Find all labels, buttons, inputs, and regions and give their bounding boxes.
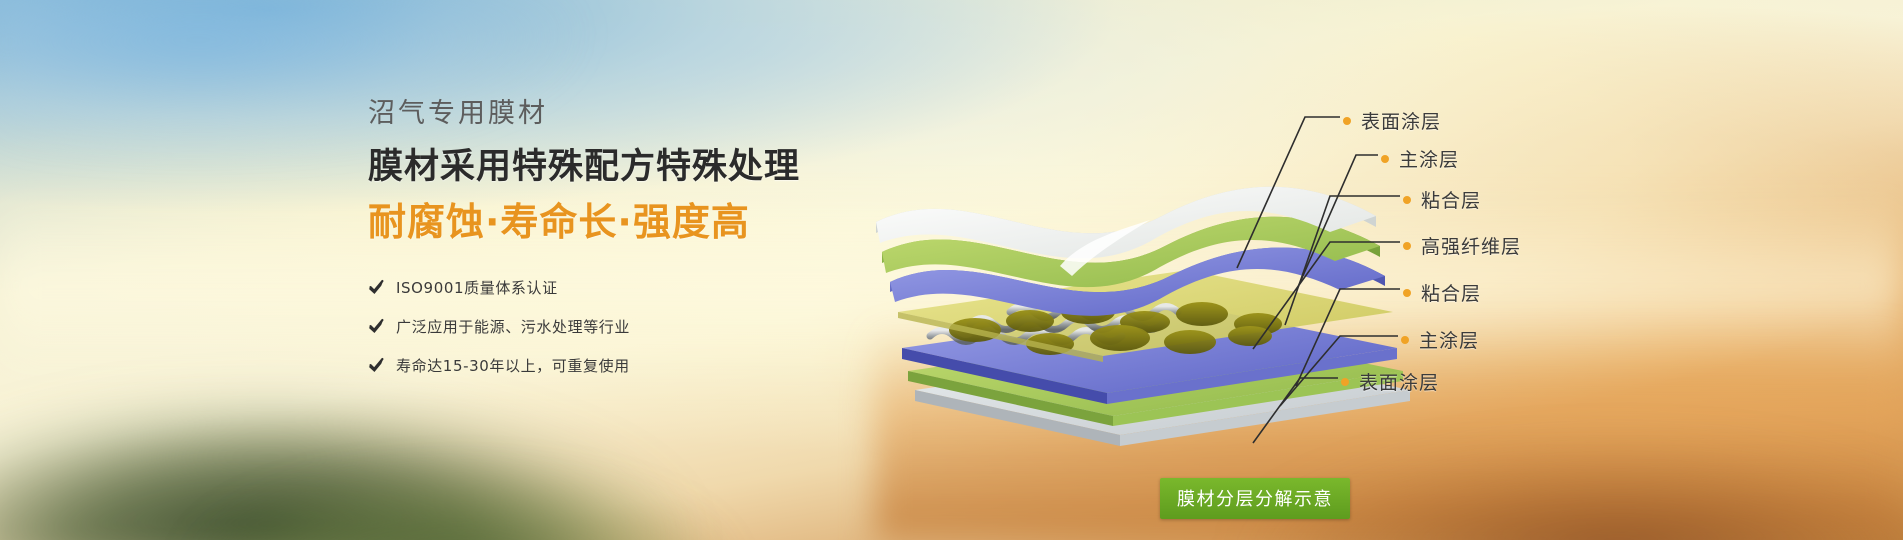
diagram-caption-badge: 膜材分层分解示意 <box>1160 478 1350 519</box>
callout-dot-icon <box>1341 378 1349 386</box>
callout-label: 粘合层 <box>1421 279 1481 306</box>
callout-dot-icon <box>1403 196 1411 204</box>
callout-label: 表面涂层 <box>1361 107 1441 134</box>
callout-dot-icon <box>1403 242 1411 250</box>
callout-label: 主涂层 <box>1399 145 1459 172</box>
callout-label: 粘合层 <box>1421 186 1481 213</box>
list-item-label: ISO9001质量体系认证 <box>396 277 558 298</box>
callout-label: 高强纤维层 <box>1421 232 1521 259</box>
callout-dot-icon <box>1343 117 1351 125</box>
callout-main-coat-bottom: 主涂层 <box>1401 326 1479 353</box>
promo-banner: 沼气专用膜材 膜材采用特殊配方特殊处理 耐腐蚀·寿命长·强度高 ISO9001质… <box>0 0 1903 540</box>
callout-surface-coat-top: 表面涂层 <box>1343 107 1441 134</box>
callout-label: 主涂层 <box>1419 326 1479 353</box>
callout-main-coat-top: 主涂层 <box>1381 145 1459 172</box>
callout-label: 表面涂层 <box>1359 368 1439 395</box>
callout-surface-coat-bottom: 表面涂层 <box>1341 368 1439 395</box>
list-item-label: 广泛应用于能源、污水处理等行业 <box>396 316 630 337</box>
background-hill-left-secondary <box>150 405 770 540</box>
check-icon <box>368 279 385 296</box>
callout-dot-icon <box>1381 155 1389 163</box>
callout-adhesive-bottom: 粘合层 <box>1403 279 1481 306</box>
check-icon <box>368 318 385 335</box>
callout-dot-icon <box>1403 289 1411 297</box>
check-icon <box>368 357 385 374</box>
diagram-caption-label: 膜材分层分解示意 <box>1177 489 1333 510</box>
callout-adhesive-top: 粘合层 <box>1403 186 1481 213</box>
callout-fiber-core: 高强纤维层 <box>1403 232 1521 259</box>
list-item-label: 寿命达15-30年以上，可重复使用 <box>396 355 630 376</box>
callout-dot-icon <box>1401 336 1409 344</box>
